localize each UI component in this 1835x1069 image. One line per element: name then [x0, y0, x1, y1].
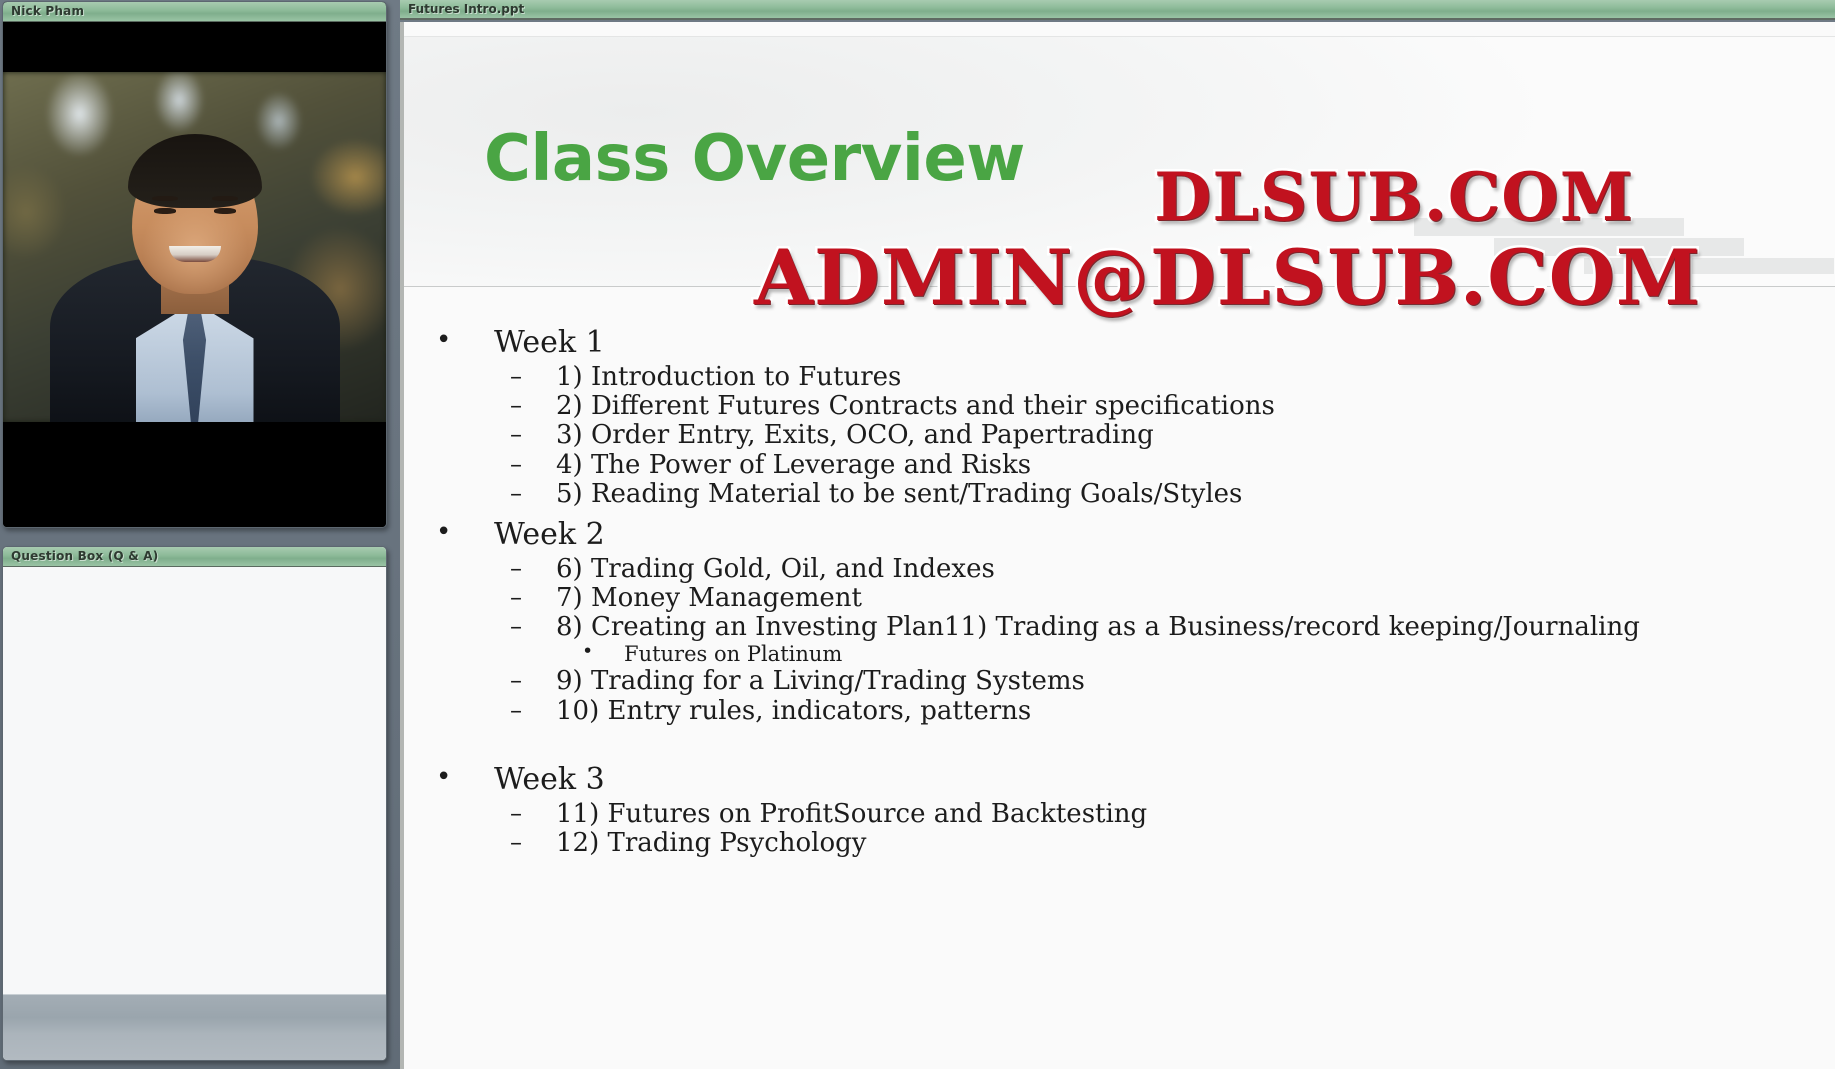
bullet-level2: – 1) Introduction to Futures [404, 363, 1835, 392]
bullet-level2-label: 2) Different Futures Contracts and their… [556, 391, 1275, 421]
presenter-video-image [3, 72, 386, 422]
question-box-input-footer[interactable] [3, 994, 386, 1060]
bullet-level2: – 10) Entry rules, indicators, patterns [404, 697, 1835, 726]
dash-icon: – [510, 421, 522, 448]
presenter-eyebrow-left [152, 196, 178, 201]
presenter-eyebrow-right [212, 196, 238, 201]
question-box-message-list[interactable] [3, 567, 386, 995]
presenter-mouth [169, 246, 221, 262]
bullet-level2: – 5) Reading Material to be sent/Trading… [404, 480, 1835, 509]
bullet-level1-label: Week 3 [494, 762, 605, 797]
bullet-level2: – 3) Order Entry, Exits, OCO, and Papert… [404, 421, 1835, 450]
bullet-level2-label: 11) Futures on ProfitSource and Backtest… [556, 799, 1147, 829]
bullet-level2-label: 7) Money Management [556, 583, 862, 613]
bullet-level2: – 4) The Power of Leverage and Risks [404, 451, 1835, 480]
bullet-level2-label: 6) Trading Gold, Oil, and Indexes [556, 554, 995, 584]
presenter-eye-left [154, 208, 176, 214]
bullet-level1-label: Week 2 [494, 517, 605, 552]
slide-decoration-bar-2 [1494, 238, 1744, 256]
slide-bullet-list: • Week 1 – 1) Introduction to Futures – … [404, 317, 1835, 858]
bullet-level2-label: 9) Trading for a Living/Trading Systems [556, 666, 1085, 696]
dash-icon: – [510, 451, 522, 478]
bullet-dot-icon: • [582, 640, 593, 663]
presentation-file-label: Futures Intro.ppt [408, 2, 524, 16]
bullet-level2: – 8) Creating an Investing Plan11) Tradi… [404, 613, 1835, 642]
slide-title-divider [404, 286, 1835, 287]
slide-decoration-bar-1 [1414, 218, 1684, 236]
presenter-head [132, 142, 258, 294]
dash-icon: – [510, 392, 522, 419]
dash-icon: – [510, 667, 522, 694]
bullet-level2: – 9) Trading for a Living/Trading System… [404, 667, 1835, 696]
bullet-level1: • Week 2 [404, 515, 1835, 555]
bullet-level2: – 11) Futures on ProfitSource and Backte… [404, 800, 1835, 829]
bullet-level1-label: Week 1 [494, 325, 605, 360]
slide-decoration-bar-3 [1584, 258, 1834, 274]
bullet-level1: • Week 3 [404, 760, 1835, 800]
bullet-dot-icon: • [436, 760, 451, 795]
slide-frame: Class Overview DLSUB.COM ADMIN@DLSUB.COM… [400, 22, 1835, 1069]
bullet-level2-label: 1) Introduction to Futures [556, 362, 901, 392]
dash-icon: – [510, 480, 522, 507]
webinar-viewer-window: Nick Pham [0, 0, 1835, 1069]
slide-heading: Class Overview [484, 122, 1025, 196]
presenter-eye-right [214, 208, 236, 214]
bullet-level2-label: 10) Entry rules, indicators, patterns [556, 696, 1031, 726]
presenter-video-stage[interactable] [3, 22, 386, 527]
bullet-dot-icon: • [436, 515, 451, 550]
dash-icon: – [510, 363, 522, 390]
presenter-video-panel[interactable]: Nick Pham [2, 1, 387, 528]
list-spacer [404, 726, 1835, 754]
slide-surface[interactable]: Class Overview DLSUB.COM ADMIN@DLSUB.COM… [404, 22, 1835, 1069]
question-box-panel[interactable]: Question Box (Q & A) [2, 546, 387, 1061]
bullet-level2: – 7) Money Management [404, 584, 1835, 613]
presentation-panel: Futures Intro.ppt Class Overview DLSUB.C… [400, 0, 1835, 1069]
bullet-level1: • Week 1 [404, 323, 1835, 363]
bullet-dot-icon: • [436, 323, 451, 358]
bullet-level2-label: 3) Order Entry, Exits, OCO, and Papertra… [556, 420, 1154, 450]
question-box-titlebar[interactable]: Question Box (Q & A) [3, 547, 386, 567]
left-sidebar: Nick Pham [0, 0, 389, 1069]
bullet-level2: – 6) Trading Gold, Oil, and Indexes [404, 555, 1835, 584]
bullet-level2: – 12) Trading Psychology [404, 829, 1835, 858]
bullet-level2: – 2) Different Futures Contracts and the… [404, 392, 1835, 421]
dash-icon: – [510, 584, 522, 611]
dash-icon: – [510, 555, 522, 582]
presenter-name-label: Nick Pham [11, 4, 84, 18]
dash-icon: – [510, 613, 522, 640]
dash-icon: – [510, 829, 522, 856]
bullet-level2-label: 12) Trading Psychology [556, 828, 866, 858]
bullet-level3-label: Futures on Platinum [624, 642, 842, 666]
dash-icon: – [510, 697, 522, 724]
bullet-level2-label: 8) Creating an Investing Plan11) Trading… [556, 612, 1640, 642]
bullet-level2-label: 5) Reading Material to be sent/Trading G… [556, 479, 1242, 509]
question-box-title-label: Question Box (Q & A) [11, 549, 158, 563]
presenter-video-titlebar[interactable]: Nick Pham [3, 2, 386, 22]
dash-icon: – [510, 800, 522, 827]
presentation-titlebar[interactable]: Futures Intro.ppt [400, 0, 1835, 20]
bullet-level3: • Futures on Platinum [404, 642, 1835, 667]
bullet-level2-label: 4) The Power of Leverage and Risks [556, 450, 1031, 480]
